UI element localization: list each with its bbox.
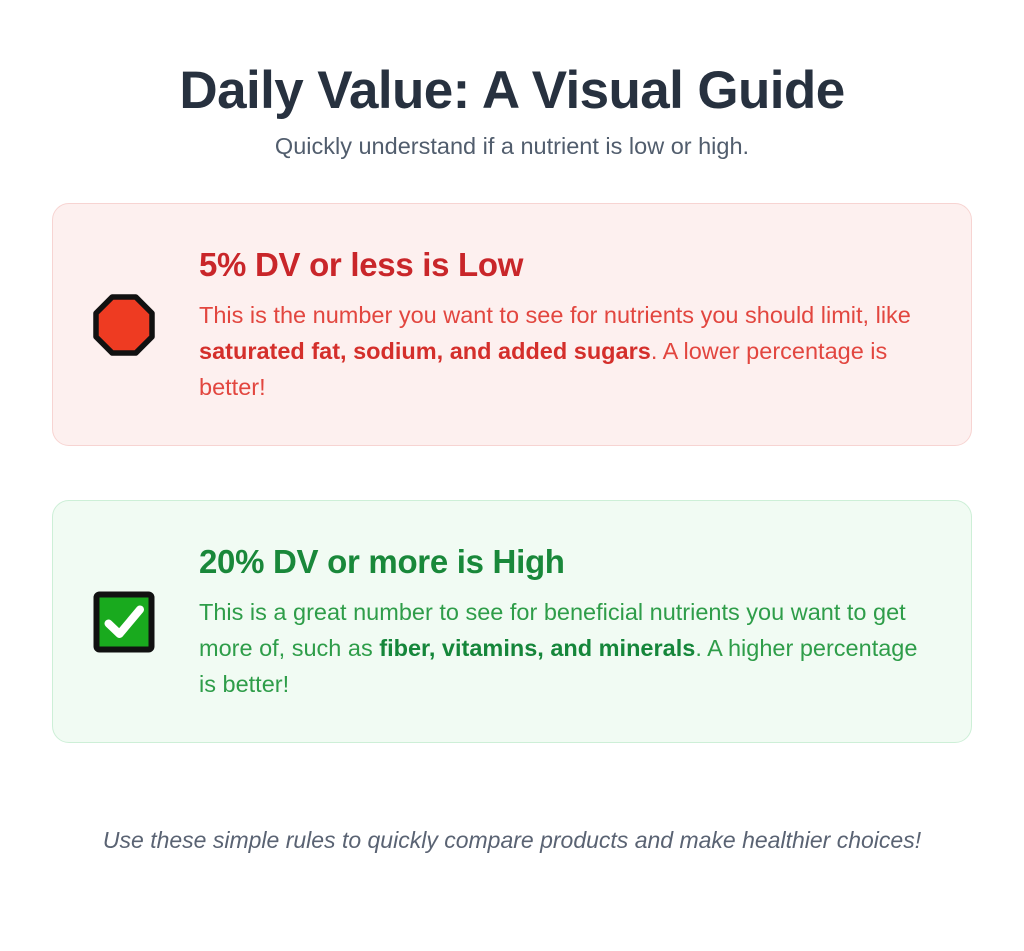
card-high-dv: 20% DV or more is High This is a great n… <box>52 500 972 743</box>
card-high-body: 20% DV or more is High This is a great n… <box>199 542 937 702</box>
card-low-text: This is the number you want to see for n… <box>199 297 937 405</box>
card-low-text-emphasis: saturated fat, sodium, and added sugars <box>199 338 651 364</box>
cards-container: 5% DV or less is Low This is the number … <box>0 203 1024 743</box>
card-low-dv: 5% DV or less is Low This is the number … <box>52 203 972 446</box>
page-title: Daily Value: A Visual Guide <box>0 62 1024 119</box>
infographic-page: Daily Value: A Visual Guide Quickly unde… <box>0 0 1024 951</box>
card-high-text-emphasis: fiber, vitamins, and minerals <box>379 635 695 661</box>
footer-note: Use these simple rules to quickly compar… <box>96 822 928 859</box>
card-low-heading: 5% DV or less is Low <box>199 247 937 283</box>
card-low-text-part1: This is the number you want to see for n… <box>199 302 911 328</box>
page-subtitle: Quickly understand if a nutrient is low … <box>0 132 1024 160</box>
header: Daily Value: A Visual Guide Quickly unde… <box>0 0 1024 160</box>
card-high-heading: 20% DV or more is High <box>199 544 937 580</box>
stop-sign-icon <box>93 294 155 356</box>
card-high-text: This is a great number to see for benefi… <box>199 594 937 702</box>
card-low-body: 5% DV or less is Low This is the number … <box>199 245 937 405</box>
check-mark-button-icon <box>93 591 155 653</box>
footer: Use these simple rules to quickly compar… <box>0 822 1024 859</box>
